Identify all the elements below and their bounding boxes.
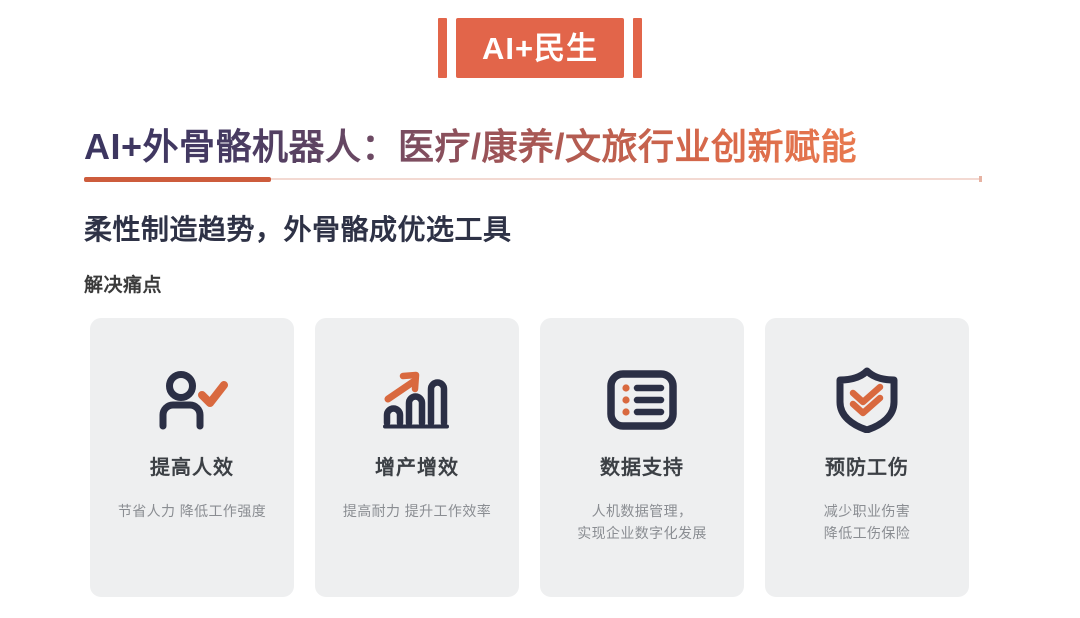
divider-end-tick [979,176,982,182]
card-improve-efficiency[interactable]: 提高人效 节省人力 降低工作强度 [90,318,294,597]
card-title: 数据支持 [600,458,684,478]
badge-banner: AI+民生 [0,18,1080,78]
card-description: 人机数据管理， 实现企业数字化发展 [569,501,715,544]
card-prevent-injury[interactable]: 预防工伤 减少职业伤害 降低工伤保险 [765,318,969,597]
badge-main-block: AI+民生 [456,18,624,78]
card-title: 预防工伤 [825,458,909,478]
card-description: 减少职业伤害 降低工伤保险 [816,501,918,544]
bar-chart-growth-icon [381,366,453,434]
pain-point-card-grid: 提高人效 节省人力 降低工作强度 增产增效 提高耐力 提升工作效率 [90,318,990,597]
card-description: 提高耐力 提升工作效率 [335,501,499,523]
card-title: 提高人效 [150,458,234,478]
shield-check-icon [833,366,901,434]
card-increase-output[interactable]: 增产增效 提高耐力 提升工作效率 [315,318,519,597]
person-check-icon [156,366,228,434]
section-label: 解决痛点 [84,270,162,297]
card-description: 节省人力 降低工作强度 [110,501,274,523]
slide-root: AI+民生 AI+外骨骼机器人：医疗/康养/文旅行业创新赋能 柔性制造趋势，外骨… [0,0,1080,618]
list-data-icon [607,366,677,434]
title-divider [84,176,982,182]
divider-thick-segment [84,177,271,182]
badge-label: AI+民生 [482,33,598,64]
card-title: 增产增效 [375,458,459,478]
card-data-support[interactable]: 数据支持 人机数据管理， 实现企业数字化发展 [540,318,744,597]
divider-thin-segment [269,178,979,180]
vertical-bar-icon [438,18,447,78]
vertical-bar-icon [633,18,642,78]
page-title: AI+外骨骼机器人：医疗/康养/文旅行业创新赋能 [84,118,857,170]
subheading: 柔性制造趋势，外骨骼成优选工具 [84,208,512,248]
